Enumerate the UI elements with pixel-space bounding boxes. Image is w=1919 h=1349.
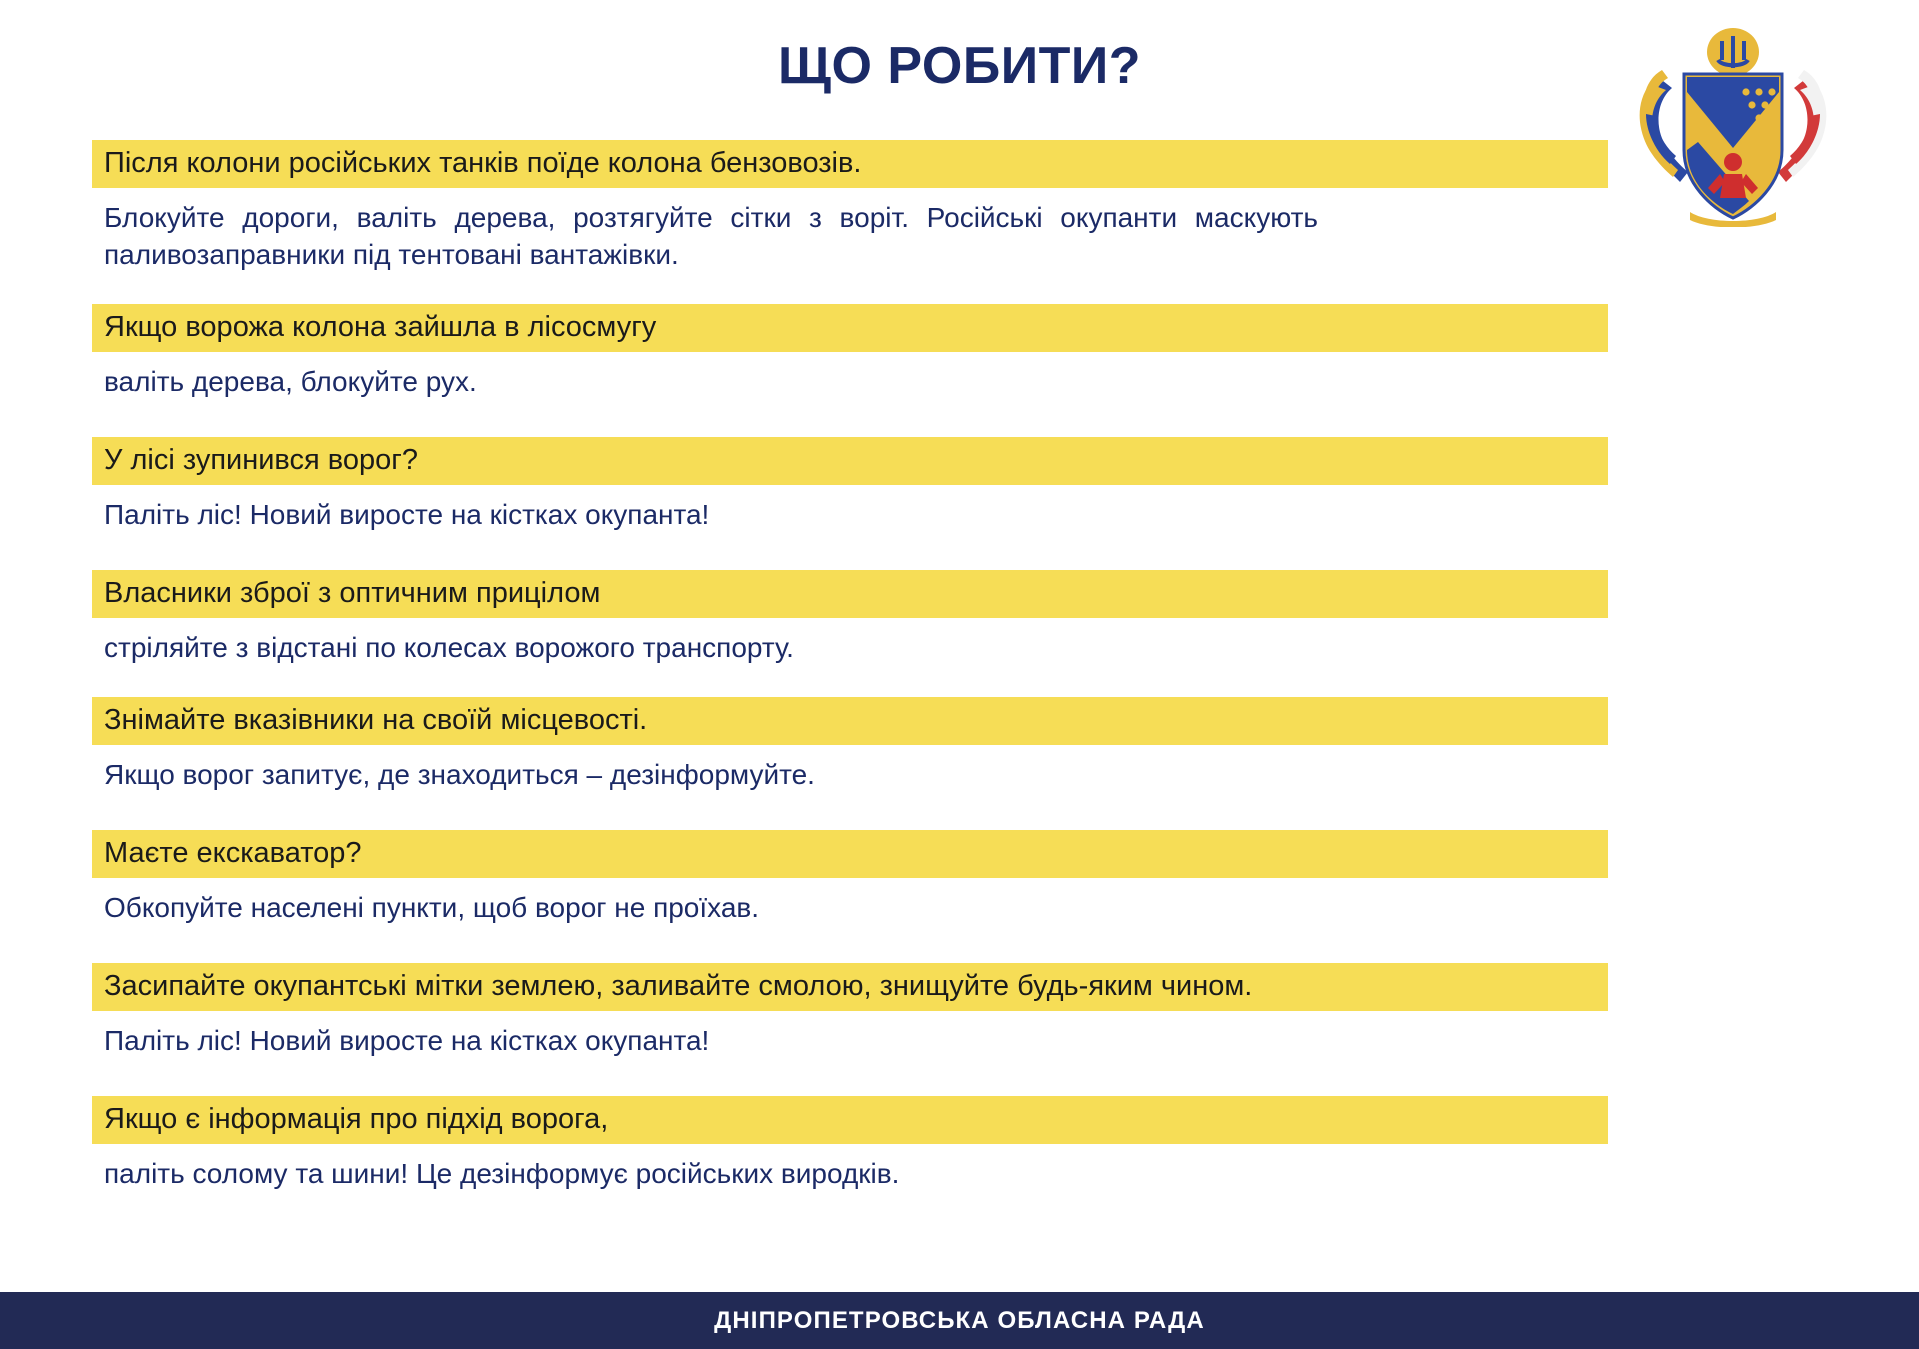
section-item: Маєте екскаватор? Обкопуйте населені пун… — [92, 830, 1608, 927]
spacer — [92, 534, 1608, 570]
section-body: Якщо ворог запитує, де знаходиться – дез… — [92, 745, 1608, 794]
coat-of-arms-emblem — [1628, 22, 1838, 227]
section-body: Паліть ліс! Новий виросте на кістках оку… — [92, 485, 1608, 534]
section-heading: У лісі зупинився ворог? — [92, 437, 1608, 485]
section-body: паліть солому та шини! Це дезінформує ро… — [92, 1144, 1608, 1193]
section-item: Засипайте окупантські мітки землею, зали… — [92, 963, 1608, 1060]
section-body: Обкопуйте населені пункти, щоб ворог не … — [92, 878, 1608, 927]
spacer — [92, 1060, 1608, 1096]
spacer — [92, 274, 1608, 304]
spacer — [92, 667, 1608, 697]
spacer — [92, 927, 1608, 963]
section-body: валіть дерева, блокуйте рух. — [92, 352, 1608, 401]
poster-root: ЩО РОБИТИ? — [0, 0, 1919, 1349]
section-heading: Власники зброї з оптичним прицілом — [92, 570, 1608, 618]
spacer — [92, 794, 1608, 830]
section-heading: Якщо є інформація про підхід ворога, — [92, 1096, 1608, 1144]
spacer — [92, 401, 1608, 437]
section-item: У лісі зупинився ворог? Паліть ліс! Нови… — [92, 437, 1608, 534]
footer-organization-name: ДНІПРОПЕТРОВСЬКА ОБЛАСНА РАДА — [714, 1307, 1205, 1335]
sections-list: Після колони російських танків поїде кол… — [92, 140, 1608, 1193]
section-body: Блокуйте дороги, валіть дерева, розтягуй… — [92, 188, 1608, 274]
section-heading: Засипайте окупантські мітки землею, зали… — [92, 963, 1608, 1011]
section-item: Власники зброї з оптичним прицілом стріл… — [92, 570, 1608, 667]
section-heading: Маєте екскаватор? — [92, 830, 1608, 878]
section-body: стріляйте з відстані по колесах ворожого… — [92, 618, 1608, 667]
section-heading: Знімайте вказівники на своїй місцевості. — [92, 697, 1608, 745]
section-heading: Після колони російських танків поїде кол… — [92, 140, 1608, 188]
section-item: Якщо ворожа колона зайшла в лісосмугу ва… — [92, 304, 1608, 401]
section-heading: Якщо ворожа колона зайшла в лісосмугу — [92, 304, 1608, 352]
section-item: Після колони російських танків поїде кол… — [92, 140, 1608, 274]
footer-bar: ДНІПРОПЕТРОВСЬКА ОБЛАСНА РАДА — [0, 1292, 1919, 1349]
section-item: Знімайте вказівники на своїй місцевості.… — [92, 697, 1608, 794]
section-item: Якщо є інформація про підхід ворога, пал… — [92, 1096, 1608, 1193]
section-body: Паліть ліс! Новий виросте на кістках оку… — [92, 1011, 1608, 1060]
